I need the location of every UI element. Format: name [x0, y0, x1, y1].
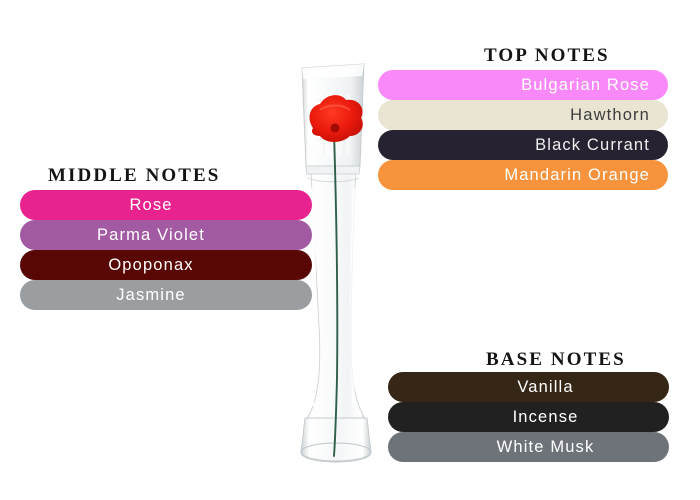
note-bar-vanilla[interactable]: Vanilla [388, 372, 669, 402]
top-notes-heading: TOP NOTES [484, 45, 610, 67]
bottle-neck-seam [306, 166, 360, 174]
bottle-cap [302, 64, 364, 166]
note-label: Mandarin Orange [504, 167, 650, 184]
note-label: Black Currant [535, 137, 650, 154]
bottle-foot-rim [301, 443, 371, 461]
note-label: White Musk [497, 439, 595, 456]
note-bar-incense[interactable]: Incense [388, 402, 669, 432]
note-label: Opoponax [108, 257, 193, 274]
note-bar-opoponax[interactable]: Opoponax [20, 250, 312, 280]
note-label: Vanilla [517, 379, 573, 396]
glass-highlight-right [352, 188, 354, 406]
fragrance-notes-infographic: TOP NOTES Bulgarian Rose Hawthorn Black … [0, 0, 700, 500]
note-bar-jasmine[interactable]: Jasmine [20, 280, 312, 310]
bottle-shoulder-line [307, 178, 359, 182]
top-notes-group: Bulgarian Rose Hawthorn Black Currant Ma… [378, 70, 668, 190]
middle-notes-heading: MIDDLE NOTES [48, 165, 220, 187]
poppy-flower [309, 95, 362, 142]
bottle-inner-etching [314, 94, 350, 156]
note-bar-rose[interactable]: Rose [20, 190, 312, 220]
bottle-cap-top-highlight [302, 64, 364, 79]
base-notes-group: Vanilla Incense White Musk [388, 372, 669, 462]
glass-highlight-left [312, 188, 314, 406]
note-label: Bulgarian Rose [521, 77, 650, 94]
note-bar-mandarin-orange[interactable]: Mandarin Orange [378, 160, 668, 190]
note-bar-bulgarian-rose[interactable]: Bulgarian Rose [378, 70, 668, 100]
flower-stem [334, 132, 337, 456]
middle-notes-group: Rose Parma Violet Opoponax Jasmine [20, 190, 312, 310]
note-label: Jasmine [116, 287, 186, 304]
note-bar-hawthorn[interactable]: Hawthorn [378, 100, 668, 130]
note-label: Incense [513, 409, 579, 426]
note-bar-parma-violet[interactable]: Parma Violet [20, 220, 312, 250]
bottle-foot [301, 418, 371, 462]
bottle-body-shape [306, 114, 366, 420]
note-bar-white-musk[interactable]: White Musk [388, 432, 669, 462]
note-label: Parma Violet [97, 227, 205, 244]
note-bar-black-currant[interactable]: Black Currant [378, 130, 668, 160]
base-notes-heading: BASE NOTES [486, 349, 626, 371]
note-label: Hawthorn [570, 107, 650, 124]
note-label: Rose [129, 197, 172, 214]
